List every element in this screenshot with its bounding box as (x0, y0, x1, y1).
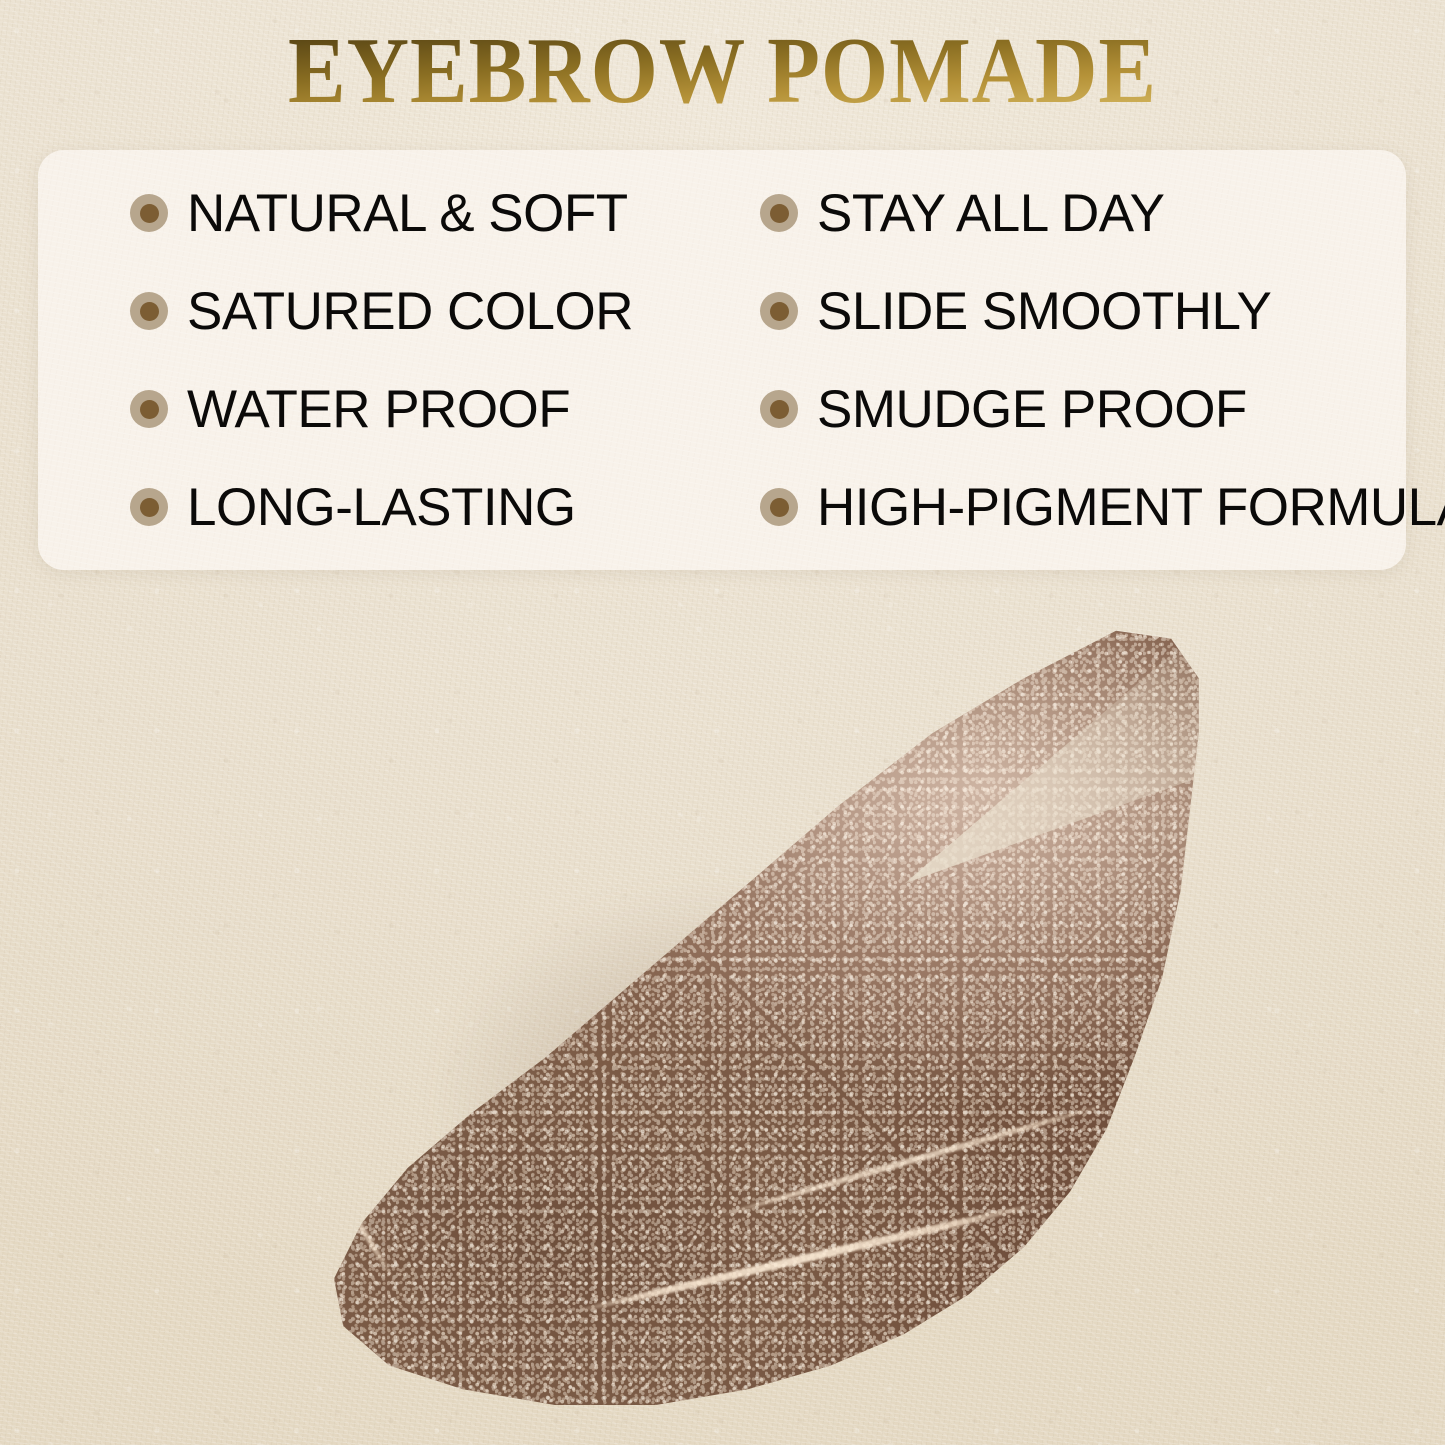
feature-label: NATURAL & SOFT (187, 187, 628, 240)
feature-item-slide-smoothly: SLIDE SMOOTHLY (760, 262, 1445, 360)
bullet-dot-icon (760, 390, 798, 428)
feature-label: SLIDE SMOOTHLY (817, 285, 1271, 338)
feature-label: STAY ALL DAY (817, 187, 1165, 240)
bullet-dot-icon (760, 488, 798, 526)
bullet-dot-icon (760, 292, 798, 330)
feature-card: NATURAL & SOFT STAY ALL DAY SATURED COLO… (38, 150, 1406, 570)
bullet-dot-icon (130, 292, 168, 330)
bullet-dot-icon (130, 390, 168, 428)
swatch-shimmer-fine (288, 615, 1208, 1405)
feature-item-long-lasting: LONG-LASTING (130, 458, 760, 556)
feature-item-stay-all-day: STAY ALL DAY (760, 164, 1445, 262)
swatch-body (288, 615, 1208, 1405)
feature-label: LONG-LASTING (187, 481, 576, 534)
feature-item-smudge-proof: SMUDGE PROOF (760, 360, 1445, 458)
feature-list: NATURAL & SOFT STAY ALL DAY SATURED COLO… (38, 150, 1406, 570)
swatch-highlight-ridge (341, 831, 657, 1032)
feature-label: WATER PROOF (187, 383, 570, 436)
feature-item-satured-color: SATURED COLOR (130, 262, 760, 360)
product-feature-graphic: EYEBROW POMADE NATURAL & SOFT STAY ALL D… (0, 0, 1445, 1445)
feature-item-natural-soft: NATURAL & SOFT (130, 164, 760, 262)
feature-item-high-pigment-formula: HIGH-PIGMENT FORMULA (760, 458, 1445, 556)
feature-label: SMUDGE PROOF (817, 383, 1247, 436)
page-title: EYEBROW POMADE (58, 22, 1387, 121)
feature-label: HIGH-PIGMENT FORMULA (817, 481, 1445, 534)
feature-item-water-proof: WATER PROOF (130, 360, 760, 458)
eyebrow-pomade-swatch (288, 615, 1208, 1405)
product-swatch-area (0, 560, 1445, 1445)
bullet-dot-icon (130, 488, 168, 526)
bullet-dot-icon (130, 194, 168, 232)
bullet-dot-icon (760, 194, 798, 232)
feature-label: SATURED COLOR (187, 285, 633, 338)
